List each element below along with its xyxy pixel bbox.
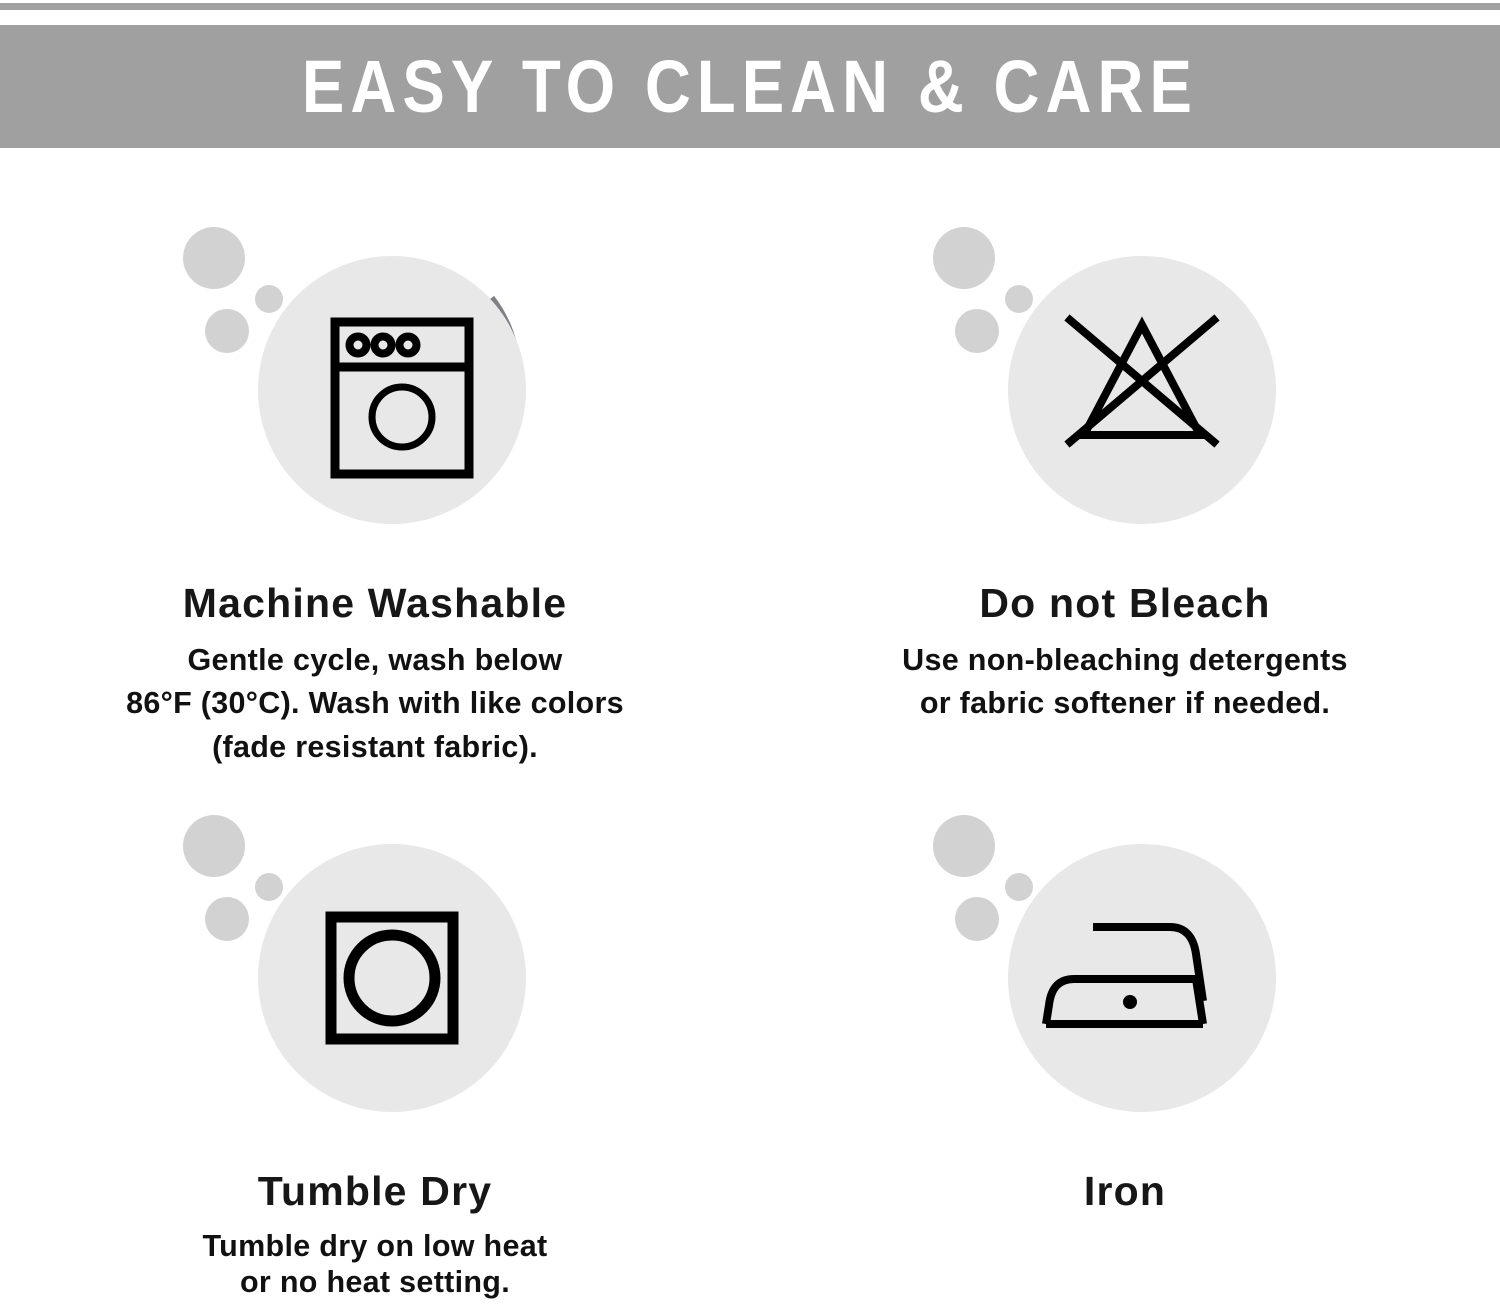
bubble-medium-icon: [205, 897, 249, 941]
panel-label: Iron: [750, 1168, 1500, 1215]
page-title: EASY TO CLEAN & CARE: [302, 50, 1198, 124]
bubble-small-icon: [1005, 285, 1033, 313]
bubbles-group: [933, 227, 1033, 353]
bubbles-group: [183, 227, 283, 353]
desc-line: or no heat setting.: [35, 1265, 715, 1301]
desc-line: Use non-bleaching detergents: [785, 639, 1465, 682]
panel-description: Tumble dry on low heat or no heat settin…: [35, 1229, 715, 1301]
care-panel-machine-washable: Machine Washable Gentle cycle, wash belo…: [0, 210, 750, 769]
desc-line: or fabric softener if needed.: [785, 682, 1465, 725]
bubble-small-icon: [255, 873, 283, 901]
desc-line: Tumble dry on low heat: [35, 1229, 715, 1265]
desc-line: Gentle cycle, wash below: [35, 639, 715, 682]
panel-label: Do not Bleach: [750, 580, 1500, 627]
bubble-medium-icon: [205, 309, 249, 353]
badge-iron: [915, 798, 1335, 1158]
badge-machine-washable: [165, 210, 585, 570]
bubble-large-icon: [183, 227, 245, 289]
badge-circle-background: [1008, 256, 1276, 524]
panel-description: Gentle cycle, wash below 86°F (30°C). Wa…: [35, 639, 715, 769]
desc-line: 86°F (30°C). Wash with like colors: [35, 682, 715, 725]
bubble-small-icon: [255, 285, 283, 313]
badge-tumble-dry: [165, 798, 585, 1158]
badge-do-not-bleach: [915, 210, 1335, 570]
top-rule: [0, 3, 1500, 10]
bubbles-group: [933, 815, 1033, 941]
bubble-large-icon: [183, 815, 245, 877]
badge-circle-background: [258, 844, 526, 1112]
bubble-medium-icon: [955, 897, 999, 941]
care-instructions-grid: Machine Washable Gentle cycle, wash belo…: [0, 148, 1500, 1311]
care-panel-do-not-bleach: Do not Bleach Use non-bleaching detergen…: [750, 210, 1500, 726]
panel-label: Tumble Dry: [0, 1168, 750, 1215]
header-banner: EASY TO CLEAN & CARE: [0, 25, 1500, 148]
desc-line: (fade resistant fabric).: [35, 726, 715, 769]
bubble-large-icon: [933, 815, 995, 877]
bubble-small-icon: [1005, 873, 1033, 901]
care-panel-iron: Iron: [750, 798, 1500, 1215]
panel-description: Use non-bleaching detergents or fabric s…: [785, 639, 1465, 726]
care-panel-tumble-dry: Tumble Dry Tumble dry on low heat or no …: [0, 798, 750, 1301]
bubble-large-icon: [933, 227, 995, 289]
panel-label: Machine Washable: [0, 580, 750, 627]
bubbles-group: [183, 815, 283, 941]
bubble-medium-icon: [955, 309, 999, 353]
